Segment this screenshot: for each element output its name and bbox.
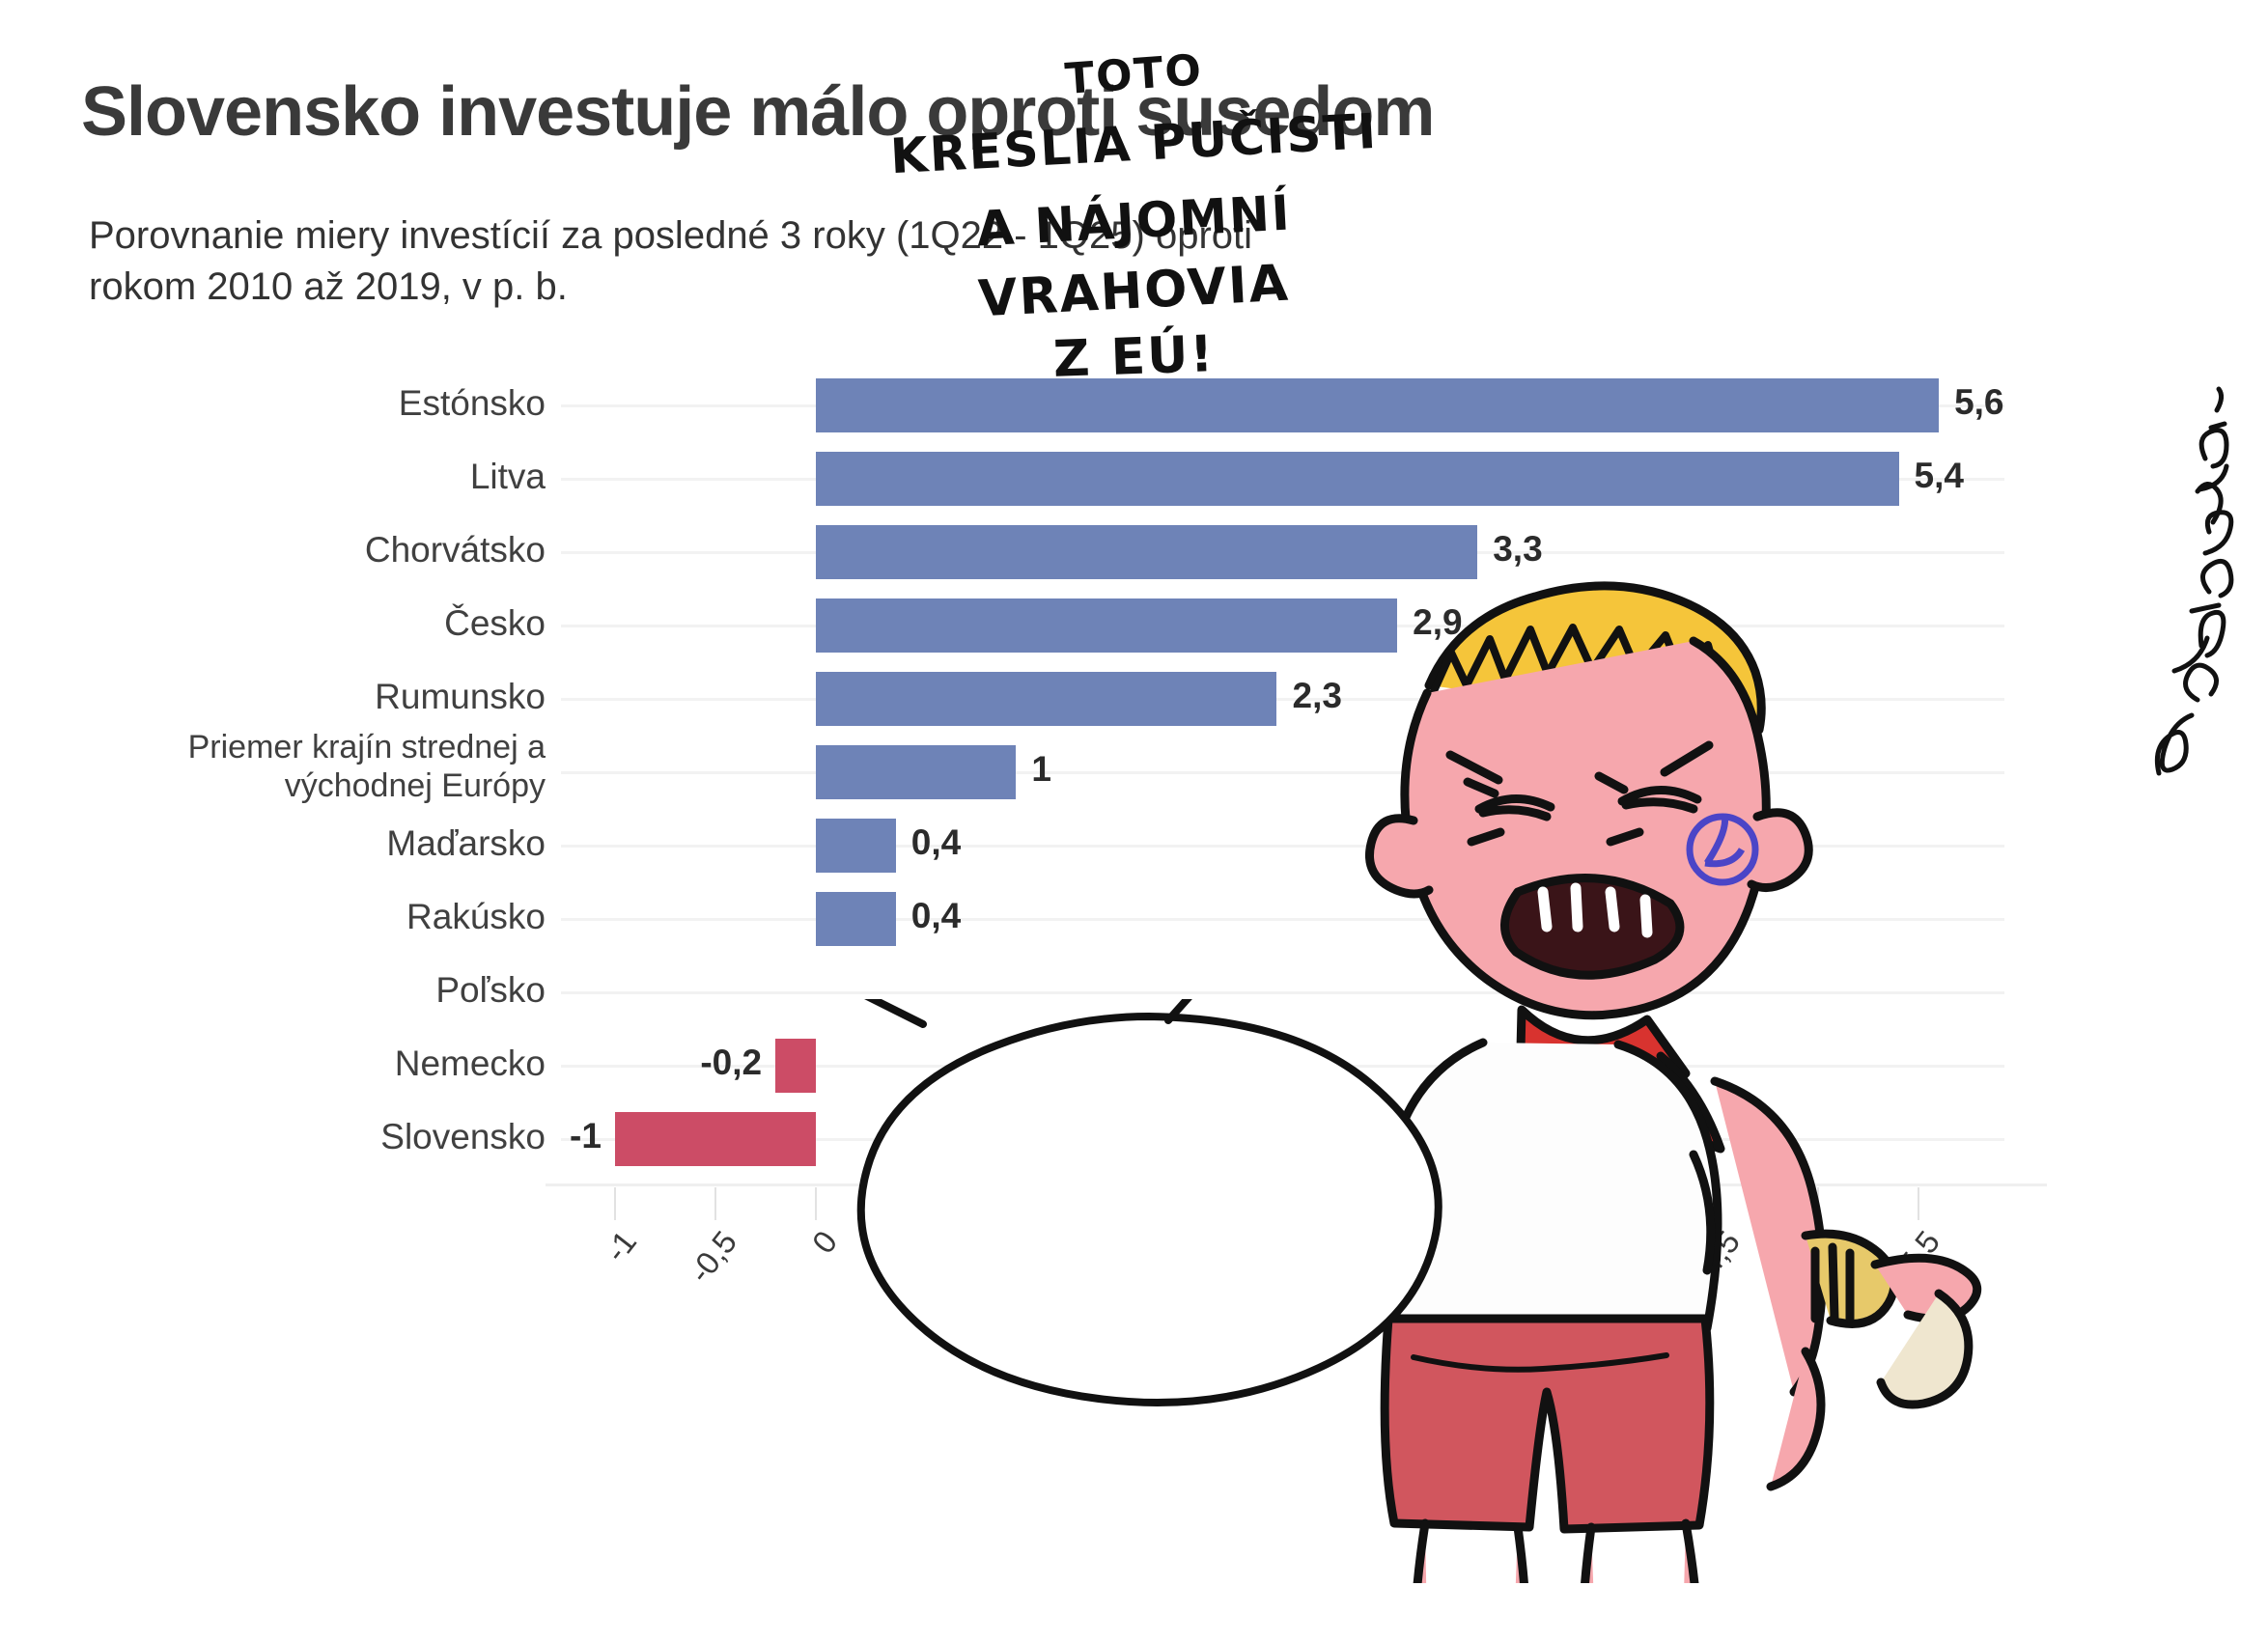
row-guide-line (561, 918, 2004, 921)
category-label: Poľsko (39, 969, 546, 1012)
x-tick-label: 0 (637, 1224, 845, 1475)
row-guide-line (561, 771, 2004, 774)
bar-value-label: 1 (1031, 749, 1051, 790)
bar (816, 452, 1899, 506)
x-tick-line (1918, 1187, 1919, 1220)
infographic-root: Slovensko investuje málo oproti susedom … (0, 0, 2268, 1642)
row-guide-line (561, 991, 2004, 994)
x-tick-label: 4,5 (1540, 1224, 1748, 1475)
bar (816, 672, 1277, 726)
x-tick-label: 5,5 (1741, 1224, 1948, 1475)
x-tick-line (1517, 1187, 1519, 1220)
bar-value-label: 2,9 (1413, 602, 1462, 643)
bar (775, 1039, 816, 1093)
x-tick-line (1617, 1187, 1619, 1220)
x-tick-line (614, 1187, 616, 1220)
category-label: Litva (39, 456, 546, 498)
bar-value-label: -0,2 (656, 1043, 762, 1083)
bar (816, 745, 1017, 799)
bar (615, 1112, 816, 1166)
category-label: Priemer krajín strednej a východnej Euró… (39, 728, 546, 805)
bar-value-label: 3,3 (1493, 529, 1542, 570)
bar (816, 525, 1478, 579)
bar-value-label: -1 (495, 1116, 602, 1156)
x-tick-label: -0,5 (537, 1224, 744, 1475)
x-tick-label: -1 (436, 1224, 644, 1475)
x-tick-line (1718, 1187, 1720, 1220)
x-tick-label: 5 (1640, 1224, 1848, 1475)
x-tick-line (714, 1187, 716, 1220)
category-label: Rakúsko (39, 896, 546, 938)
x-tick-line (1817, 1187, 1819, 1220)
x-tick-label: 4 (1440, 1224, 1647, 1475)
row-guide-line (561, 698, 2004, 701)
speech-bubble (850, 999, 1448, 1414)
x-tick-line (815, 1187, 817, 1220)
bar-value-label: 5,4 (1915, 456, 1964, 496)
category-label: Nemecko (39, 1043, 546, 1085)
category-label: Chorvátsko (39, 529, 546, 571)
bar-value-label: 2,3 (1293, 676, 1342, 716)
category-label: Rumunsko (39, 676, 546, 718)
category-label: Slovensko (39, 1116, 546, 1158)
bar-value-label: 5,6 (1954, 382, 2003, 423)
artist-signature (2105, 381, 2250, 787)
bar (816, 598, 1397, 653)
bar-value-label: 0,4 (911, 896, 961, 936)
row-guide-line (561, 845, 2004, 848)
category-label: Česko (39, 602, 546, 645)
category-label: Maďarsko (39, 822, 546, 865)
bar (816, 892, 896, 946)
bar-value-label: 0,4 (911, 822, 961, 863)
bar (816, 819, 896, 873)
